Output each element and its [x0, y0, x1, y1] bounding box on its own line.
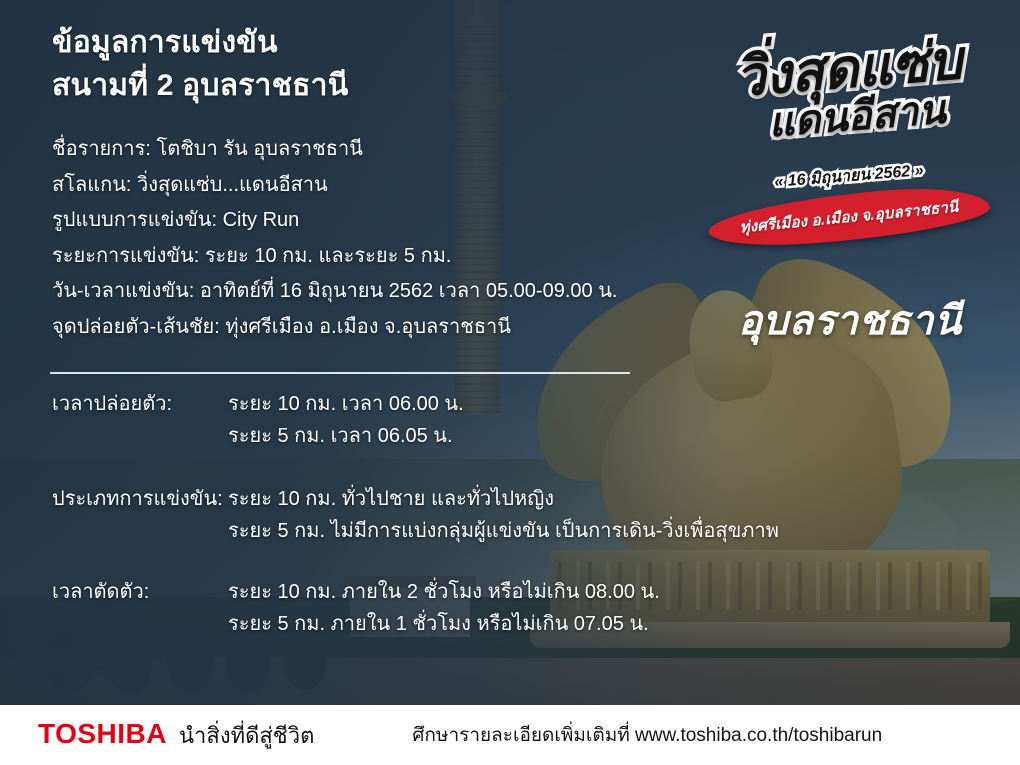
schedule-value-category-5km: ระยะ 5 กม. ไม่มีการแบ่งกลุ่มผู้แข่งขัน เ… — [228, 515, 779, 547]
fact-slogan: สโลแกน: วิ่งสุดแซ่บ...แดนอีสาน — [52, 168, 752, 204]
section-divider — [50, 372, 630, 374]
footer-more-info: ศึกษารายละเอียดเพิ่มเติมที่ www.toshiba.… — [412, 720, 882, 750]
schedule-values-start-time: ระยะ 10 กม. เวลา 06.00 น. ระยะ 5 กม. เวล… — [228, 388, 464, 453]
schedule-values-categories: ระยะ 10 กม. ทั่วไปชาย และทั่วไปหญิง ระยะ… — [228, 483, 779, 548]
event-logo-city: อุบลราชธานี — [700, 288, 1000, 352]
page-title-line-1: ข้อมูลการแข่งขัน — [52, 22, 572, 65]
schedule-value-start-5km: ระยะ 5 กม. เวลา 06.05 น. — [228, 420, 464, 452]
fact-race-datetime: วัน-เวลาแข่งขัน: อาทิตย์ที่ 16 มิถุนายน … — [52, 274, 752, 310]
toshiba-tagline: นำสิ่งที่ดีสู่ชีวิต — [179, 718, 314, 753]
schedule-details: เวลาปล่อยตัว: ระยะ 10 กม. เวลา 06.00 น. … — [52, 388, 892, 640]
fact-race-format: รูปแบบการแข่งขัน: City Run — [52, 203, 752, 239]
fact-start-finish: จุดปล่อยตัว-เส้นชัย: ทุ่งศรีเมือง อ.เมือ… — [52, 310, 752, 346]
event-logo-wordmark: วิ่งสุดแซ่บ แดนอีสาน — [701, 31, 1000, 151]
event-facts-list: ชื่อรายการ: โตชิบา รัน อุบลราชธานี สโลแก… — [52, 132, 752, 346]
schedule-value-cutoff-5km: ระยะ 5 กม. ภายใน 1 ชั่วโมง หรือไม่เกิน 0… — [228, 608, 660, 640]
schedule-value-category-10km: ระยะ 10 กม. ทั่วไปชาย และทั่วไปหญิง — [228, 483, 779, 515]
toshiba-logo-text: TOSHIBA — [38, 718, 167, 750]
event-logo: วิ่งสุดแซ่บ แดนอีสาน « 16 มิถุนายน 2562 … — [700, 42, 1000, 302]
fact-event-name: ชื่อรายการ: โตชิบา รัน อุบลราชธานี — [52, 132, 752, 168]
schedule-values-cutoff: ระยะ 10 กม. ภายใน 2 ชั่วโมง หรือไม่เกิน … — [228, 576, 660, 641]
schedule-label-cutoff: เวลาตัดตัว: — [52, 576, 228, 641]
schedule-group-categories: ประเภทการแข่งขัน: ระยะ 10 กม. ทั่วไปชาย … — [52, 483, 892, 548]
page-title-line-2: สนามที่ 2 อุบลราชธานี — [52, 65, 572, 108]
schedule-value-start-10km: ระยะ 10 กม. เวลา 06.00 น. — [228, 388, 464, 420]
poster: ข้อมูลการแข่งขัน สนามที่ 2 อุบลราชธานี ช… — [0, 0, 1020, 765]
poster-content: ข้อมูลการแข่งขัน สนามที่ 2 อุบลราชธานี ช… — [0, 0, 1020, 765]
schedule-value-cutoff-10km: ระยะ 10 กม. ภายใน 2 ชั่วโมง หรือไม่เกิน … — [228, 576, 660, 608]
schedule-label-start-time: เวลาปล่อยตัว: — [52, 388, 228, 453]
toshiba-brand-lockup: TOSHIBA นำสิ่งที่ดีสู่ชีวิต — [38, 718, 314, 753]
page-title: ข้อมูลการแข่งขัน สนามที่ 2 อุบลราชธานี — [52, 22, 572, 107]
footer-bar: TOSHIBA นำสิ่งที่ดีสู่ชีวิต ศึกษารายละเอ… — [0, 705, 1020, 765]
schedule-group-start-time: เวลาปล่อยตัว: ระยะ 10 กม. เวลา 06.00 น. … — [52, 388, 892, 453]
fact-race-distances: ระยะการแข่งขัน: ระยะ 10 กม. และระยะ 5 กม… — [52, 239, 752, 275]
schedule-label-categories: ประเภทการแข่งขัน: — [52, 483, 228, 548]
schedule-group-cutoff: เวลาตัดตัว: ระยะ 10 กม. ภายใน 2 ชั่วโมง … — [52, 576, 892, 641]
